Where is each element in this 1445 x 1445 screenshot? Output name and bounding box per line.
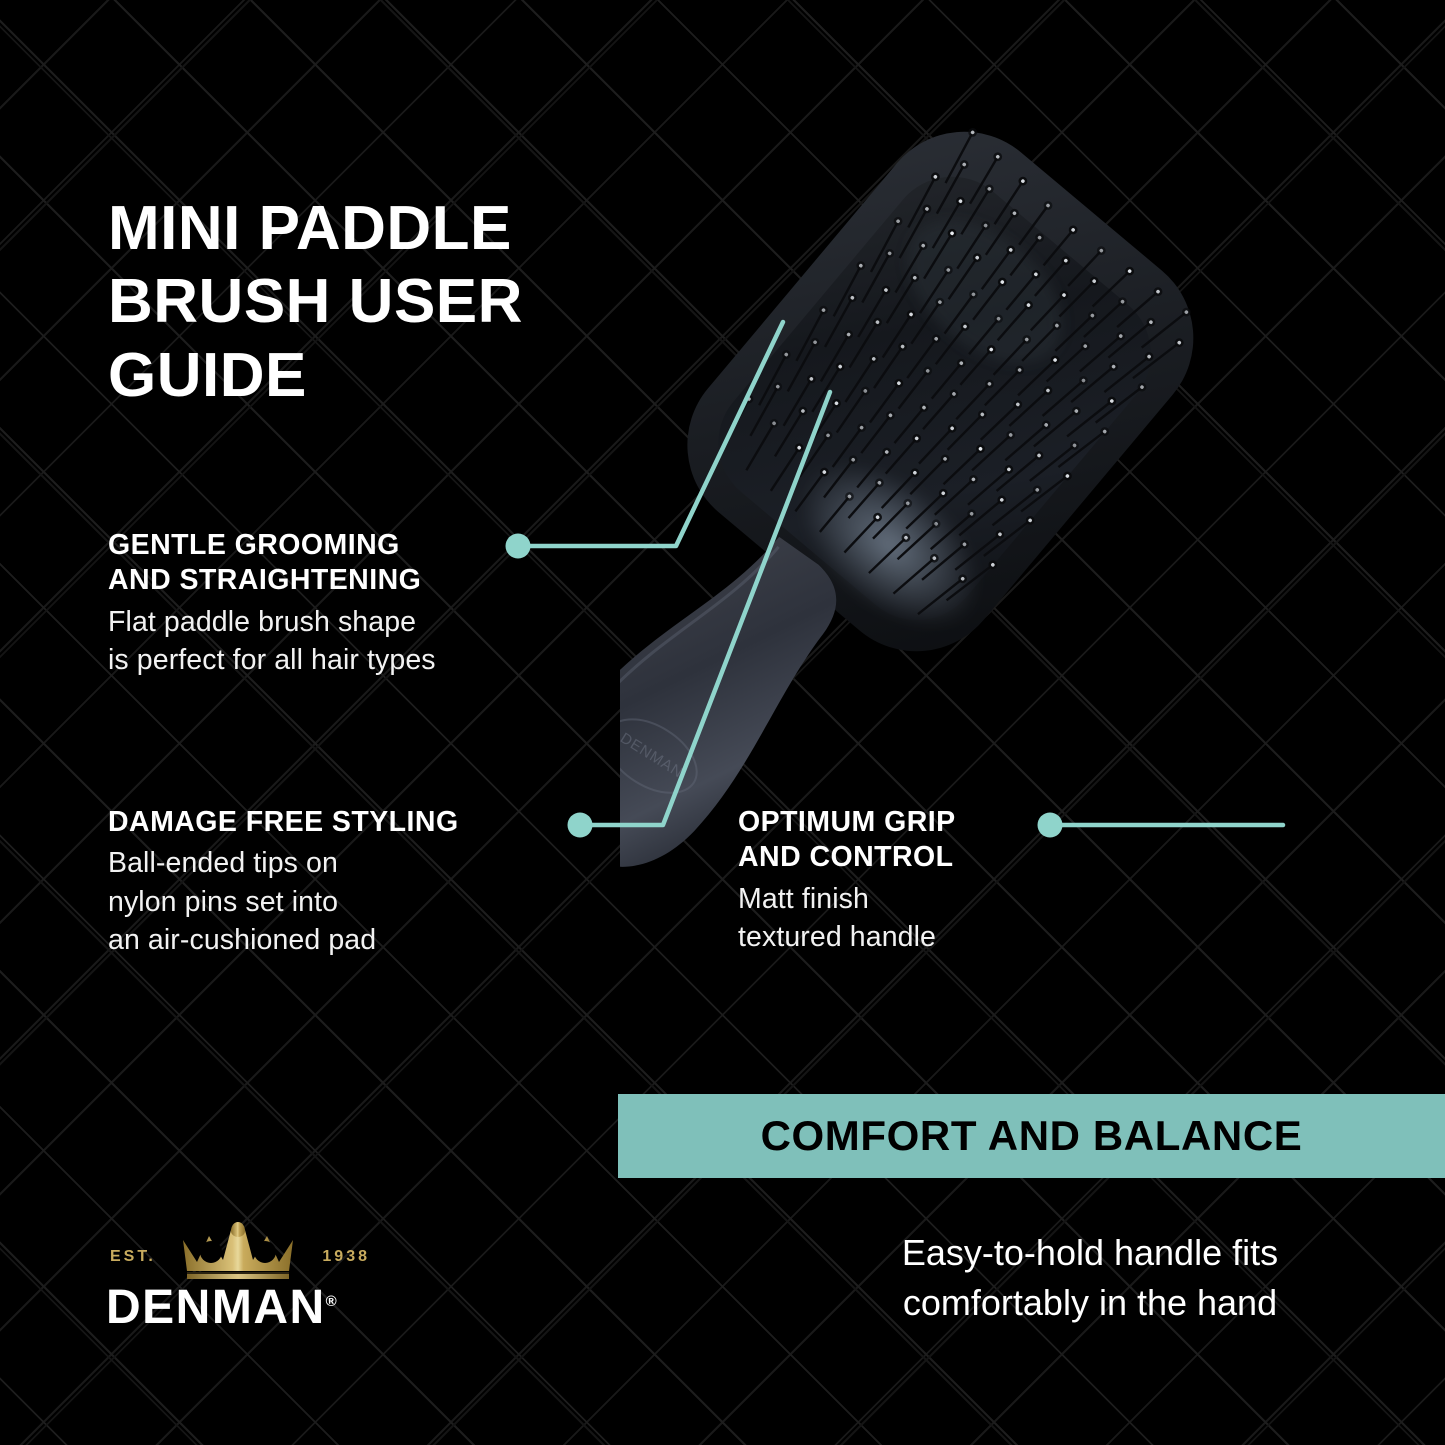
feature-heading: OPTIMUM GRIP AND CONTROL — [738, 805, 1068, 876]
feature-body: Flat paddle brush shape is perfect for a… — [108, 603, 578, 680]
page-title: MINI PADDLE BRUSH USER GUIDE — [108, 192, 668, 413]
feature-heading: DAMAGE FREE STYLING — [108, 805, 578, 840]
feature-body: Matt finish textured handle — [738, 880, 1068, 957]
logo-crown-row: EST. — [106, 1222, 370, 1284]
feature-optimum-grip: OPTIMUM GRIP AND CONTROL Matt finish tex… — [738, 805, 1068, 957]
feature-damage-free-styling: DAMAGE FREE STYLING Ball-ended tips on n… — [108, 805, 578, 960]
feature-heading: GENTLE GROOMING AND STRAIGHTENING — [108, 528, 578, 599]
feature-gentle-grooming: GENTLE GROOMING AND STRAIGHTENING Flat p… — [108, 528, 578, 680]
logo-wordmark-text: DENMAN — [106, 1281, 326, 1334]
comfort-banner-heading: COMFORT AND BALANCE — [761, 1112, 1303, 1160]
logo-year-label: 1938 — [322, 1248, 370, 1266]
logo-registered-mark: ® — [326, 1293, 339, 1310]
brand-logo: EST. — [106, 1222, 370, 1332]
infographic-page: MINI PADDLE BRUSH USER GUIDE — [0, 0, 1445, 1445]
comfort-banner: COMFORT AND BALANCE — [618, 1094, 1445, 1178]
logo-est-label: EST. — [110, 1248, 156, 1266]
crown-icon — [179, 1222, 297, 1284]
logo-wordmark: DENMAN® — [106, 1284, 370, 1332]
feature-body: Ball-ended tips on nylon pins set into a… — [108, 844, 578, 959]
comfort-banner-caption: Easy-to-hold handle fits comfortably in … — [760, 1228, 1420, 1327]
